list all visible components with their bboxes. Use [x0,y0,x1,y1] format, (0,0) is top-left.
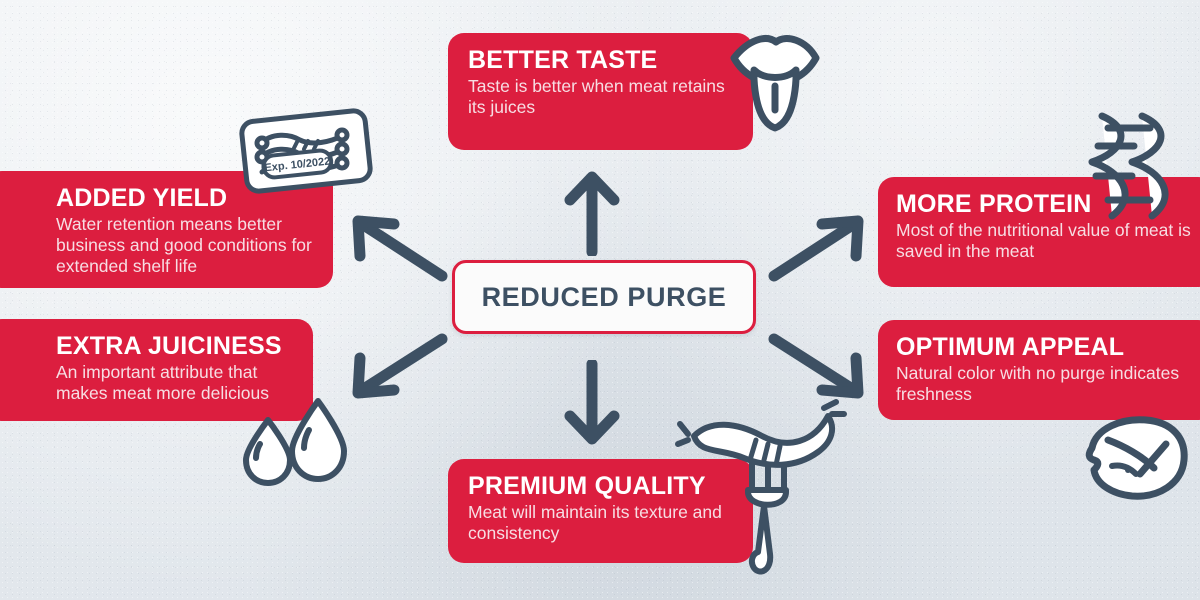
card-description: Natural color with no purge indicates fr… [896,363,1194,404]
infographic-canvas: Exp. 10/2022 [0,0,1200,600]
card-title: EXTRA JUICINESS [6,333,293,359]
arrow-down-right-icon [768,330,868,407]
arrow-down-icon [562,360,622,453]
arrow-up-left-icon [348,212,448,289]
sausage-on-fork-icon [664,398,860,584]
water-droplets-icon [240,396,350,488]
card-description: Water retention means better business an… [6,214,313,276]
node-card-better-taste[interactable]: BETTER TASTE Taste is better when meat r… [448,33,753,150]
tongue-mouth-icon [726,24,822,148]
center-node-reduced-purge[interactable]: REDUCED PURGE [452,260,756,334]
arrow-up-icon [562,168,622,261]
sausage-package-label-icon: Exp. 10/2022 [238,108,374,194]
node-card-optimum-appeal[interactable]: OPTIMUM APPEAL Natural color with no pur… [878,320,1200,420]
steak-cut-icon [1078,412,1192,508]
card-description: Taste is better when meat retains its ju… [468,76,733,117]
card-description: Most of the nutritional value of meat is… [896,220,1194,261]
center-node-label: REDUCED PURGE [482,282,727,313]
card-title: BETTER TASTE [468,47,733,73]
dna-helix-icon [1072,108,1184,224]
card-title: OPTIMUM APPEAL [896,334,1194,360]
arrow-up-right-icon [768,212,868,289]
arrow-down-left-icon [348,330,448,407]
